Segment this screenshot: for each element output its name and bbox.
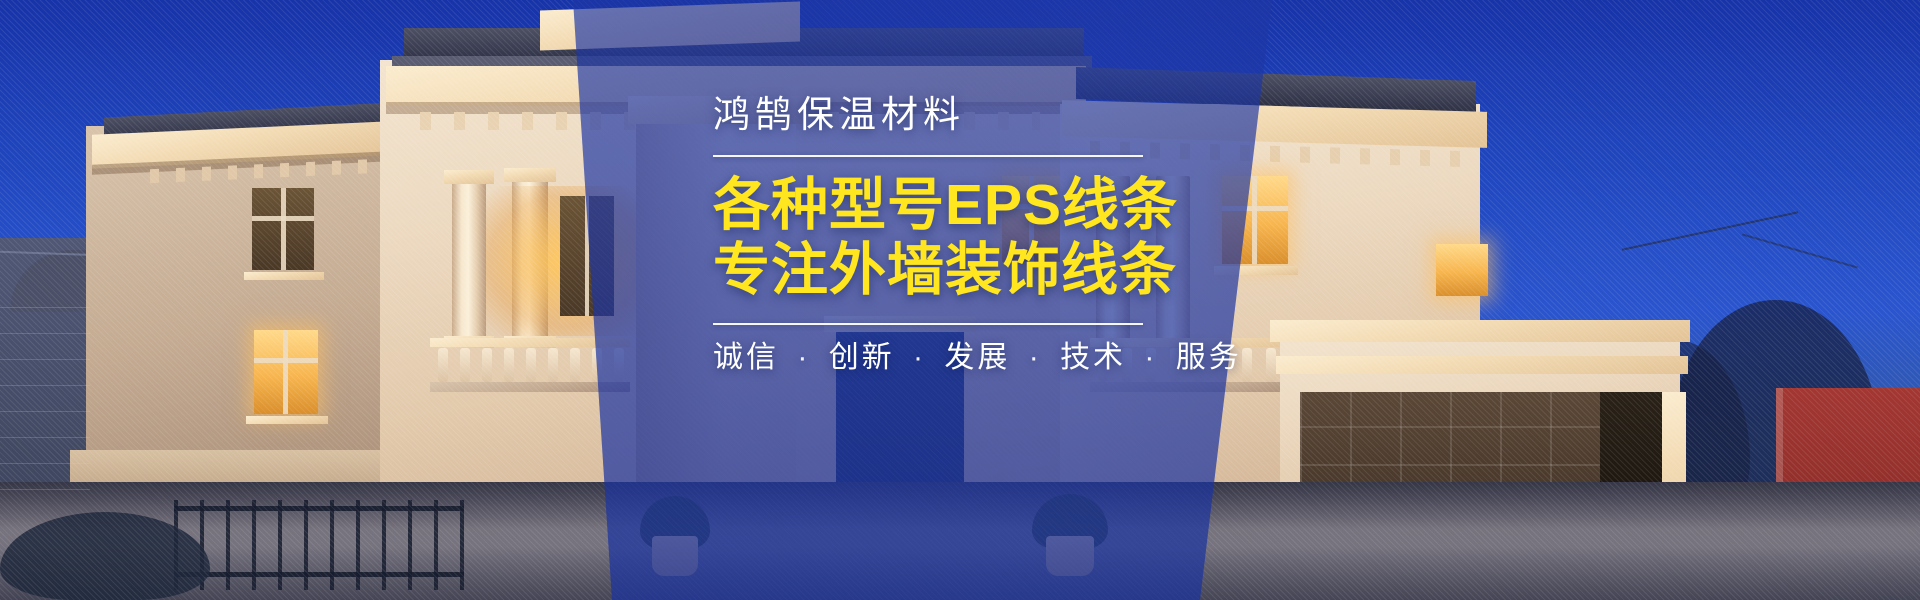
brand-eyebrow: 鸿鹄保温材料: [713, 96, 1183, 133]
divider-rule-bottom: [713, 323, 1143, 325]
banner-copy-block: 鸿鹄保温材料 各种型号EPS线条 专注外墙装饰线条 诚信 · 创新 · 发展 ·…: [713, 96, 1183, 373]
headline-line-1: 各种型号EPS线条: [713, 173, 1183, 238]
divider-rule-top: [713, 155, 1143, 157]
tagline-separator-icon: ·: [790, 341, 817, 374]
tagline: 诚信 · 创新 · 发展 · 技术 · 服务: [713, 343, 1183, 373]
tagline-item-3: 发展: [944, 341, 1010, 374]
tagline-item-4: 技术: [1060, 341, 1126, 374]
headline-line-2: 专注外墙装饰线条: [713, 238, 1183, 303]
tagline-separator-icon: ·: [1022, 341, 1049, 374]
tagline-item-1: 诚信: [713, 341, 779, 374]
tagline-separator-icon: ·: [906, 341, 933, 374]
tagline-separator-icon: ·: [1137, 341, 1164, 374]
headline-group: 各种型号EPS线条 专注外墙装饰线条: [713, 173, 1183, 303]
tagline-item-2: 创新: [829, 341, 895, 374]
tagline-item-5: 服务: [1176, 341, 1242, 374]
hero-banner: 鸿鹄保温材料 各种型号EPS线条 专注外墙装饰线条 诚信 · 创新 · 发展 ·…: [0, 0, 1920, 600]
